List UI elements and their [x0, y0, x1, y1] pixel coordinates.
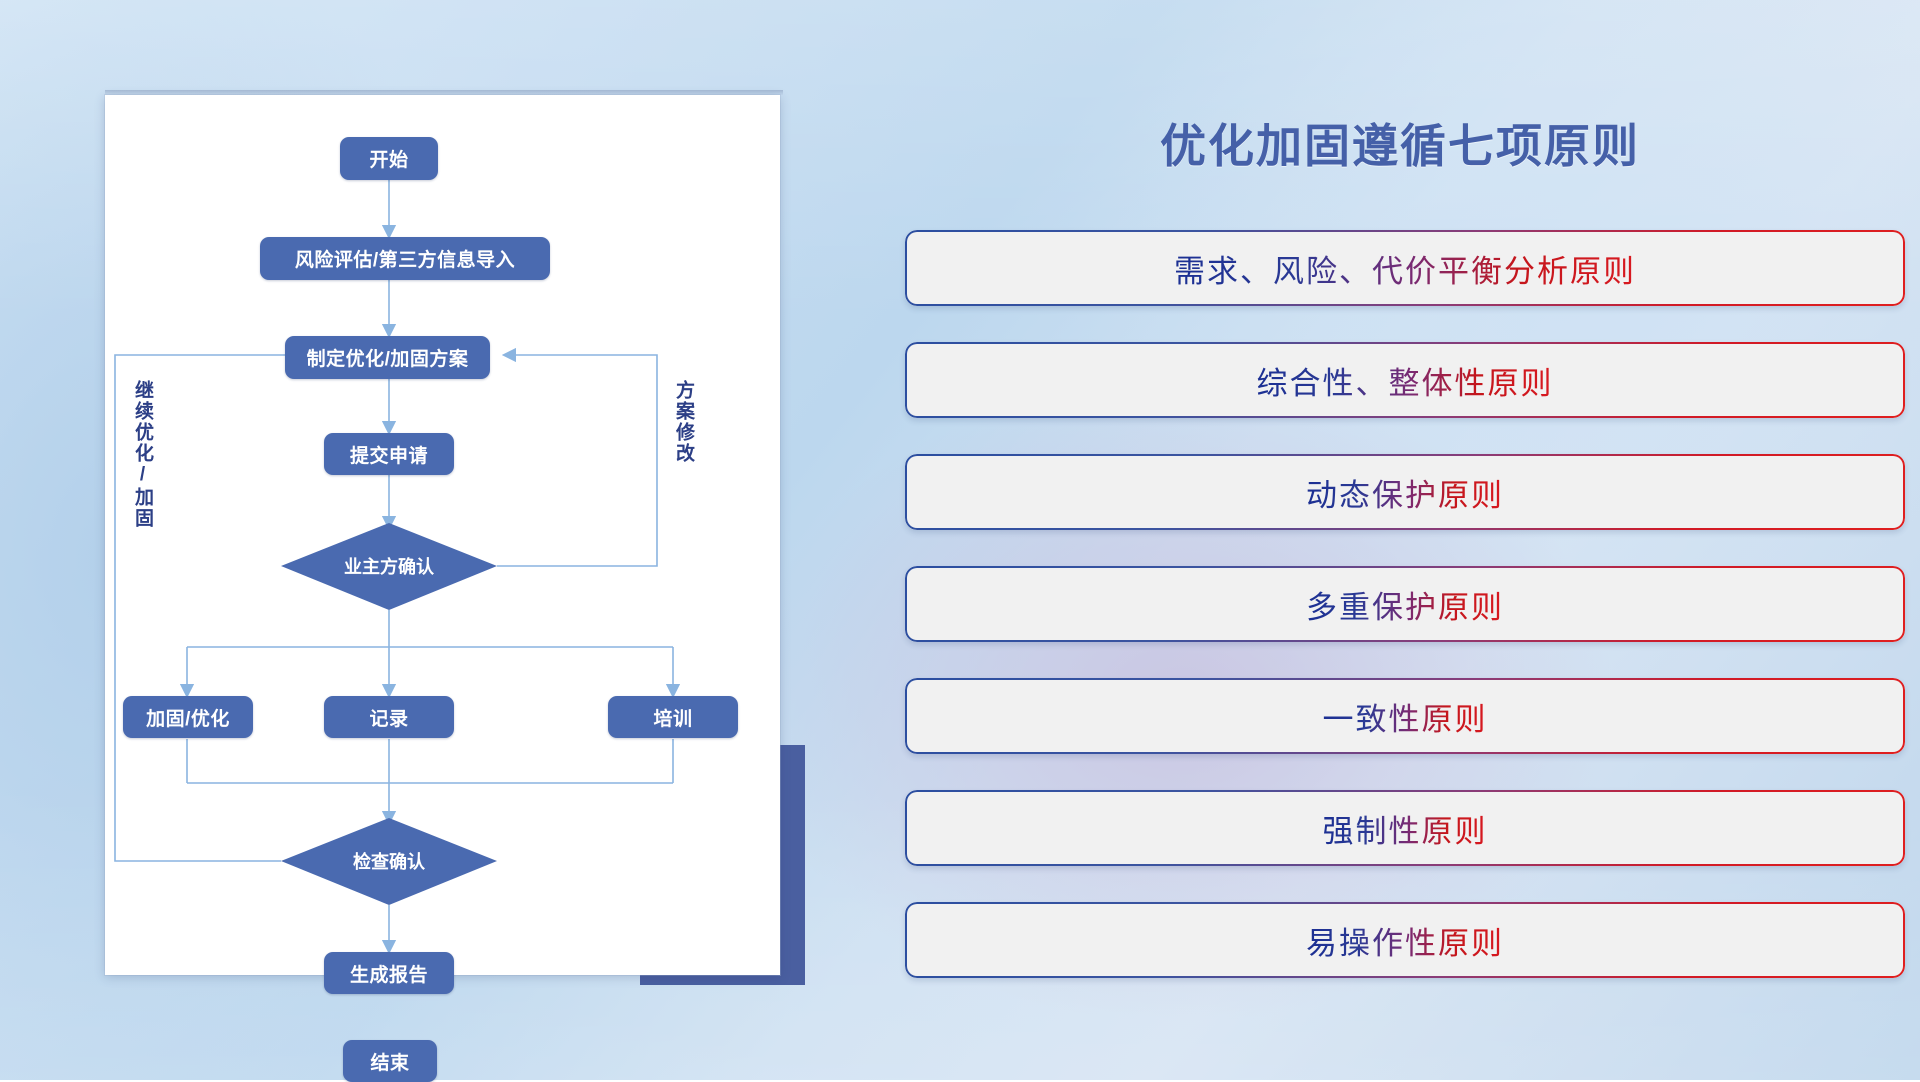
flow-node-end[interactable]: 结束	[343, 1040, 437, 1082]
principle-card[interactable]: 需求、风险、代价平衡分析原则	[905, 230, 1905, 306]
principle-label: 需求、风险、代价平衡分析原则	[1174, 246, 1636, 291]
flowchart-canvas: 开始 风险评估/第三方信息导入 制定优化/加固方案 提交申请 业主方确认 加固/…	[105, 95, 780, 975]
flowchart-connectors	[105, 95, 780, 975]
flow-node-label: 记录	[369, 704, 408, 731]
principle-label: 一致性原则	[1323, 694, 1488, 739]
flow-node-label: 生成报告	[350, 960, 428, 987]
flowchart-paper-card: 开始 风险评估/第三方信息导入 制定优化/加固方案 提交申请 业主方确认 加固/…	[105, 95, 780, 975]
principle-card[interactable]: 综合性、整体性原则	[905, 342, 1905, 418]
flow-node-record[interactable]: 记录	[324, 696, 454, 738]
flow-node-label: 开始	[369, 145, 408, 172]
flow-node-training[interactable]: 培训	[608, 696, 738, 738]
flow-node-reinforce[interactable]: 加固/优化	[123, 696, 253, 738]
edge-label-continue-optimise: 继续优化/加固	[129, 380, 156, 529]
principle-card[interactable]: 一致性原则	[905, 678, 1905, 754]
flow-node-label: 结束	[370, 1048, 409, 1075]
flow-node-label: 风险评估/第三方信息导入	[295, 245, 515, 272]
flow-node-risk-assessment[interactable]: 风险评估/第三方信息导入	[260, 237, 550, 280]
flow-node-plan[interactable]: 制定优化/加固方案	[285, 336, 490, 379]
principle-label: 强制性原则	[1323, 806, 1488, 851]
flow-node-label: 培训	[653, 704, 692, 731]
flow-node-label: 加固/优化	[146, 704, 230, 731]
principle-label: 易操作性原则	[1306, 918, 1504, 963]
principle-card[interactable]: 强制性原则	[905, 790, 1905, 866]
principle-card[interactable]: 动态保护原则	[905, 454, 1905, 530]
principle-label: 多重保护原则	[1306, 582, 1504, 627]
flow-node-submit-application[interactable]: 提交申请	[324, 433, 454, 475]
flow-node-start[interactable]: 开始	[340, 137, 438, 180]
principles-card-list: 需求、风险、代价平衡分析原则 综合性、整体性原则 动态保护原则 多重保护原则 一…	[905, 230, 1905, 1014]
flow-node-label: 制定优化/加固方案	[307, 344, 469, 371]
flow-node-label: 提交申请	[350, 441, 428, 468]
principle-card[interactable]: 易操作性原则	[905, 902, 1905, 978]
principles-title: 优化加固遵循七项原则	[880, 110, 1920, 176]
flow-node-generate-report[interactable]: 生成报告	[324, 952, 454, 994]
edge-label-plan-revision: 方案修改	[670, 380, 697, 464]
principle-label: 动态保护原则	[1306, 470, 1504, 515]
flowchart-panel: 开始 风险评估/第三方信息导入 制定优化/加固方案 提交申请 业主方确认 加固/…	[0, 0, 880, 1080]
principle-label: 综合性、整体性原则	[1257, 358, 1554, 403]
principles-panel: 优化加固遵循七项原则 需求、风险、代价平衡分析原则 综合性、整体性原则 动态保护…	[880, 0, 1920, 1080]
principle-card[interactable]: 多重保护原则	[905, 566, 1905, 642]
